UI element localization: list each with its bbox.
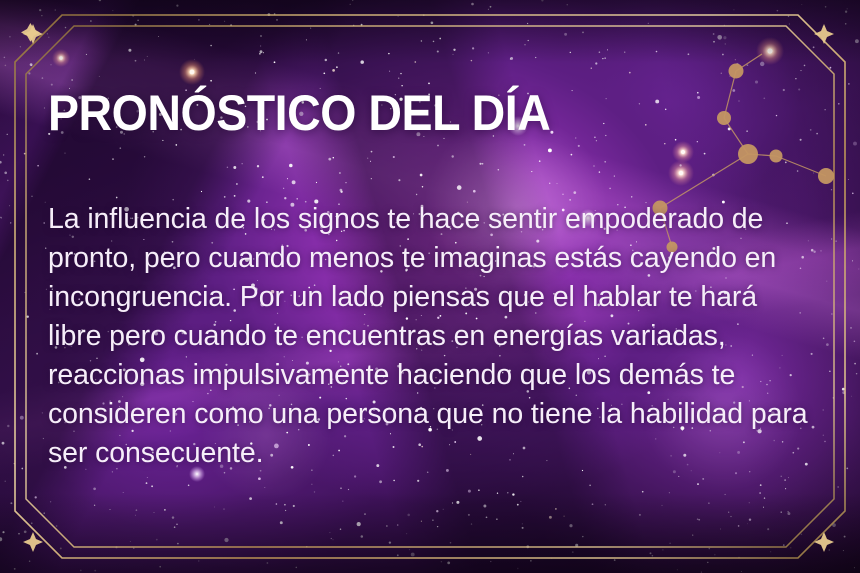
sparkle-star-icon (21, 23, 40, 42)
page-title: PRONÓSTICO DEL DÍA (48, 88, 550, 138)
card-content: PRONÓSTICO DEL DÍA La influencia de los … (48, 0, 818, 573)
forecast-body-text: La influencia de los signos te hace sent… (48, 200, 810, 473)
sparkle-star-icon-bl (23, 532, 43, 552)
pronostico-del-dia-card: PRONÓSTICO DEL DÍA La influencia de los … (0, 0, 860, 573)
sparkle-star-icon-tl (23, 24, 43, 44)
